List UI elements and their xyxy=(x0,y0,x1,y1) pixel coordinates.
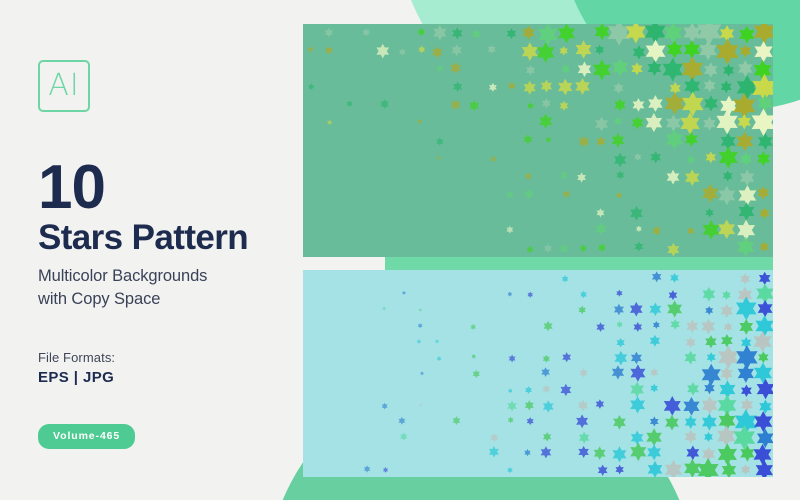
preview-canvas: AI 10 Stars Pattern Multicolor Backgroun… xyxy=(0,0,800,500)
ai-format-badge-label: AI xyxy=(48,71,79,101)
volume-badge: Volume-465 xyxy=(38,424,135,449)
green-stars-preview-panel[interactable] xyxy=(303,24,773,257)
file-formats-label: File Formats: xyxy=(38,350,296,365)
file-formats-value: EPS | JPG xyxy=(38,369,296,386)
file-formats-block: File Formats: EPS | JPG xyxy=(38,350,296,386)
page-title: Stars Pattern xyxy=(38,220,296,257)
blue-stars-preview-panel[interactable] xyxy=(303,270,773,477)
item-count: 10 xyxy=(38,158,296,218)
green-stars-pattern xyxy=(303,24,773,257)
info-column: AI 10 Stars Pattern Multicolor Backgroun… xyxy=(0,0,296,500)
page-subtitle-line-2: with Copy Space xyxy=(38,288,296,310)
ai-format-badge: AI xyxy=(38,60,90,112)
blue-stars-pattern xyxy=(303,270,773,477)
decorative-divider-band xyxy=(385,257,773,270)
page-subtitle: Multicolor Backgrounds with Copy Space xyxy=(38,265,296,310)
page-subtitle-line-1: Multicolor Backgrounds xyxy=(38,265,296,287)
